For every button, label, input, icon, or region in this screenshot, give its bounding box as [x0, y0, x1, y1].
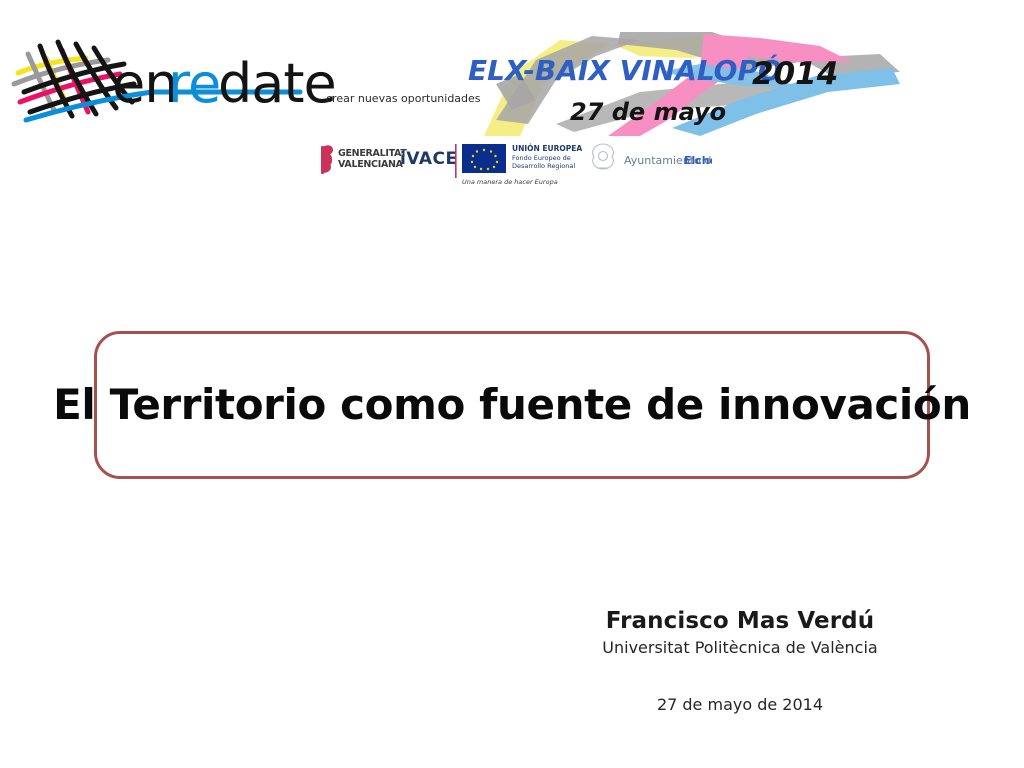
event-date: 27 de mayo: [570, 98, 726, 126]
eu-footer-slogan: Una manera de hacer Europa: [462, 178, 558, 186]
page-title: El Territorio como fuente de innovación: [53, 384, 971, 426]
sponsor-ayuntamiento-elche: Ayuntamiento de Elche: [593, 144, 712, 169]
slide-title-box: El Territorio como fuente de innovación: [94, 331, 930, 479]
ivace-label: iVACE: [400, 149, 458, 169]
event-year: 2014: [752, 56, 838, 92]
author-affiliation: Universitat Politècnica de València: [530, 637, 950, 659]
enredate-word-part2: re: [168, 52, 220, 115]
sponsor-divider: [455, 144, 457, 178]
enredate-wordmark: en re date crear nuevas oportunidades: [112, 52, 481, 115]
enredate-tagline: crear nuevas oportunidades: [326, 92, 481, 105]
eu-label-line3: Desarrollo Regional: [512, 162, 575, 170]
enredate-word-part3: date: [218, 52, 336, 115]
generalitat-label-line1: GENERALITAT: [338, 148, 407, 159]
generalitat-label-line2: VALENCIANA: [338, 159, 404, 170]
sponsor-logo-strip: GENERALITAT VALENCIANA iVACE UNIÓN EUROP…: [0, 138, 1024, 194]
author-block: Francisco Mas Verdú Universitat Politècn…: [530, 608, 950, 660]
eu-flag-icon: [462, 144, 506, 173]
generalitat-crown-icon: [321, 145, 333, 174]
presentation-date: 27 de mayo de 2014: [530, 695, 950, 714]
elche-label-strong: Elche: [684, 154, 712, 167]
event-banner: en re date crear nuevas oportunidades EL…: [0, 28, 1024, 138]
event-banner-graphic: en re date crear nuevas oportunidades EL…: [0, 28, 1024, 138]
sponsor-generalitat-valenciana: GENERALITAT VALENCIANA: [321, 145, 407, 174]
sponsor-union-europea: UNIÓN EUROPEA Fondo Europeo de Desarroll…: [462, 144, 582, 186]
elche-shield-icon: [593, 144, 614, 169]
event-location-title: ELX-BAIX VINALOPÓ: [468, 53, 782, 87]
eu-label-line2: Fondo Europeo de: [512, 154, 571, 162]
sponsor-logos-graphic: GENERALITAT VALENCIANA iVACE UNIÓN EUROP…: [312, 138, 712, 190]
author-name: Francisco Mas Verdú: [530, 608, 950, 634]
eu-label-line1: UNIÓN EUROPEA: [512, 144, 582, 153]
sponsor-ivace: iVACE: [400, 149, 458, 169]
